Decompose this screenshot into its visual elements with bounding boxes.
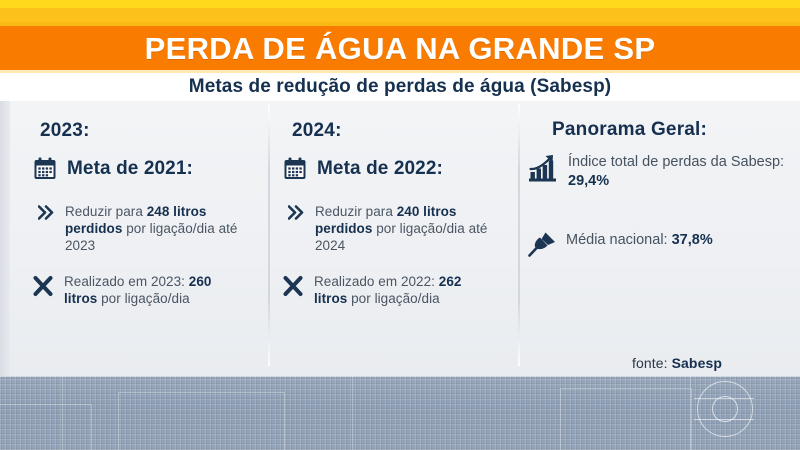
column-2024-goal-row: Meta de 2022: (282, 156, 443, 182)
bottom-ghost-line-3 (690, 376, 691, 450)
page-subtitle: Metas de redução de perdas de água (Sabe… (189, 76, 611, 98)
source-credit: fonte: Sabesp (632, 355, 722, 371)
panorama-row-indice: Índice total de perdas da Sabesp: 29,4% (528, 153, 790, 191)
bottom-band-top-edge (0, 376, 800, 377)
column-2024-goal-label: Meta de 2022: (317, 158, 443, 180)
panorama-row-media-text: Média nacional: 37,8% (566, 231, 713, 250)
pushpin-icon (528, 231, 558, 257)
column-panorama: Panorama Geral: Índice total de perdas d… (520, 101, 800, 376)
column-2024-bullet-target-text: Reduzir para 240 litros perdidos por lig… (315, 203, 516, 254)
header-bar: PERDA DE ÁGUA NA GRANDE SP (0, 26, 800, 70)
column-2023-bullet-target-text: Reduzir para 248 litros perdidos por lig… (65, 203, 260, 254)
calendar-icon (282, 156, 308, 182)
subtitle-bar: Metas de redução de perdas de água (Sabe… (0, 73, 800, 101)
column-2023-bullet-actual-text: Realizado em 2023: 260 litros por ligaçã… (64, 273, 247, 307)
bottom-ghost-shape-1 (118, 392, 285, 450)
top-stripe-amber (0, 8, 800, 22)
column-2023-goal-label: Meta de 2021: (67, 158, 193, 180)
source-name: Sabesp (672, 355, 722, 371)
top-stripe-yellow (0, 0, 800, 8)
panel-left-edge (0, 101, 10, 376)
bottom-ghost-shape-2 (0, 404, 92, 450)
page-title: PERDA DE ÁGUA NA GRANDE SP (145, 33, 656, 64)
x-mark-icon (32, 275, 54, 297)
globo-logo-inner (712, 396, 738, 422)
column-2023-bullet-target: Reduzir para 248 litros perdidos por lig… (38, 203, 260, 254)
column-2023: 2023: Meta d (10, 101, 268, 376)
column-2024-bullet-target: Reduzir para 240 litros perdidos por lig… (288, 203, 516, 254)
column-2023-year: 2023: (40, 120, 90, 142)
column-2023-goal-row: Meta de 2021: (32, 156, 193, 182)
bottom-ghost-shape-3 (560, 388, 692, 450)
column-2024-year: 2024: (292, 120, 342, 142)
column-2024-bullet-actual: Realizado em 2022: 262 litros por ligaçã… (282, 273, 497, 307)
panorama-title: Panorama Geral: (552, 119, 707, 141)
infographic-screen: PERDA DE ÁGUA NA GRANDE SP Metas de redu… (0, 0, 800, 450)
calendar-icon (32, 156, 58, 182)
x-mark-icon (282, 275, 304, 297)
source-prefix: fonte: (632, 355, 672, 371)
bottom-ghost-line-1 (62, 376, 63, 450)
panorama-row-indice-text: Índice total de perdas da Sabesp: 29,4% (568, 153, 790, 191)
double-chevron-icon (288, 205, 305, 220)
globo-logo (694, 378, 756, 440)
bottom-ghost-line-2 (352, 376, 353, 450)
column-2024-bullet-actual-text: Realizado em 2022: 262 litros por ligaçã… (314, 273, 497, 307)
column-2024: 2024: Meta d (270, 101, 518, 376)
column-2023-bullet-actual: Realizado em 2023: 260 litros por ligaçã… (32, 273, 247, 307)
double-chevron-icon (38, 205, 55, 220)
growth-chart-icon (528, 153, 560, 183)
panorama-row-media: Média nacional: 37,8% (528, 231, 790, 257)
